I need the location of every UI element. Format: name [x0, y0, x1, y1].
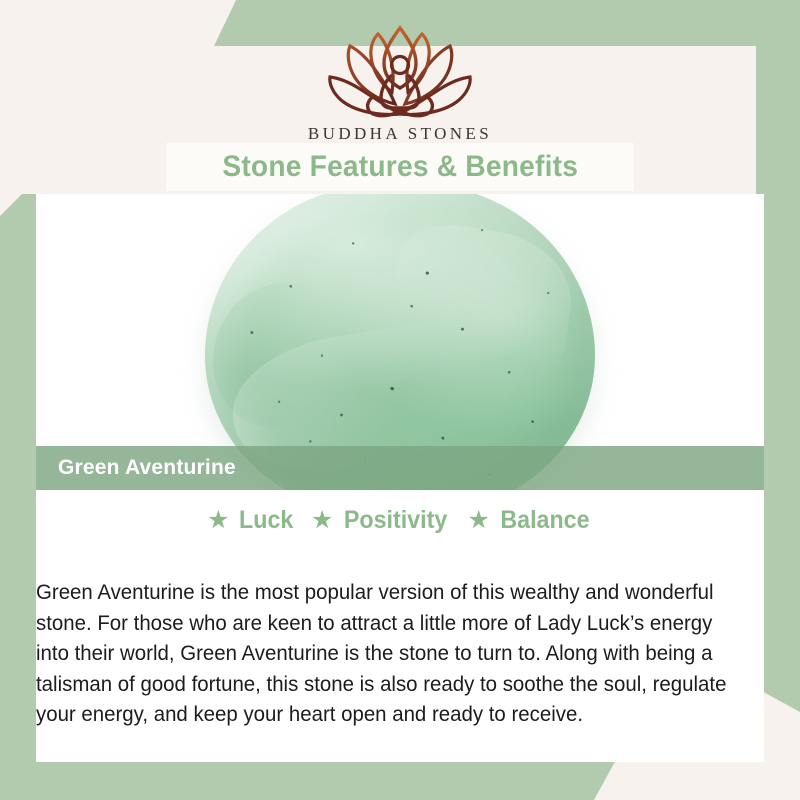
brand-name: BUDDHA STONES [0, 124, 800, 144]
lotus-meditation-icon [0, 18, 800, 122]
title-banner: Stone Features & Benefits [166, 143, 634, 191]
content-card: Green Aventurine ★ Luck ★ Positivity ★ B… [36, 194, 764, 762]
brand-logo: BUDDHA STONES [0, 18, 800, 144]
star-icon: ★ [311, 508, 333, 533]
stone-photo: Green Aventurine [36, 194, 764, 490]
star-icon: ★ [468, 508, 490, 533]
benefits-row: ★ Luck ★ Positivity ★ Balance [36, 506, 764, 535]
poster-root: BUDDHA STONES Stone Features & Benefits … [0, 0, 800, 800]
stone-caption-label: Green Aventurine [58, 456, 236, 480]
benefit-item-balance: ★ Balance [468, 506, 593, 535]
stone-description: Green Aventurine is the most popular ver… [36, 577, 729, 730]
benefit-label: Luck [239, 506, 293, 535]
benefit-label: Positivity [344, 506, 447, 535]
page-title: Stone Features & Benefits [222, 150, 578, 184]
benefit-item-positivity: ★ Positivity [311, 506, 452, 535]
benefit-label: Balance [500, 506, 589, 535]
stone-caption-bar: Green Aventurine [36, 446, 764, 490]
decor-band-bottom [0, 756, 618, 800]
star-icon: ★ [207, 508, 229, 533]
benefit-item-luck: ★ Luck [207, 506, 295, 535]
